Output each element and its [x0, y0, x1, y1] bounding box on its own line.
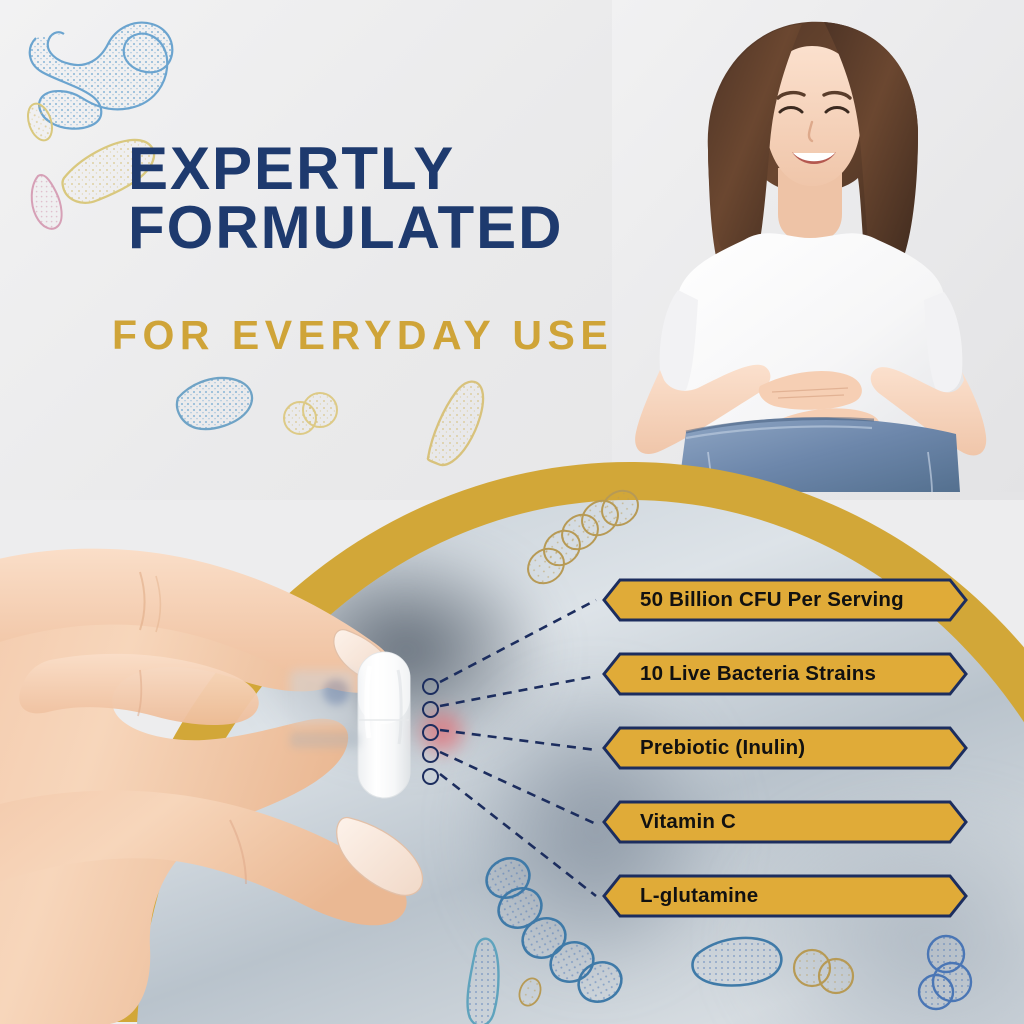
headline-line-1: EXPERTLY	[128, 140, 648, 199]
feature-callout-label: 10 Live Bacteria Strains	[640, 662, 876, 686]
page-subtitle: FOR EVERYDAY USE	[112, 312, 672, 359]
feature-callout-label: Vitamin C	[640, 810, 736, 834]
infographic-canvas: 50 Billion CFU Per Serving 10 Live Bacte…	[0, 0, 1024, 1024]
feature-callout-label: L-glutamine	[640, 884, 758, 908]
feature-callout-1[interactable]: 50 Billion CFU Per Serving	[602, 578, 968, 622]
headline-line-2: FORMULATED	[128, 199, 648, 258]
feature-callout-label: Prebiotic (Inulin)	[640, 736, 805, 760]
feature-callout-5[interactable]: L-glutamine	[602, 874, 968, 918]
feature-callout-2[interactable]: 10 Live Bacteria Strains	[602, 652, 968, 696]
page-title: EXPERTLY FORMULATED	[128, 140, 648, 258]
feature-callout-4[interactable]: Vitamin C	[602, 800, 968, 844]
feature-callout-label: 50 Billion CFU Per Serving	[640, 588, 904, 612]
feature-callout-3[interactable]: Prebiotic (Inulin)	[602, 726, 968, 770]
